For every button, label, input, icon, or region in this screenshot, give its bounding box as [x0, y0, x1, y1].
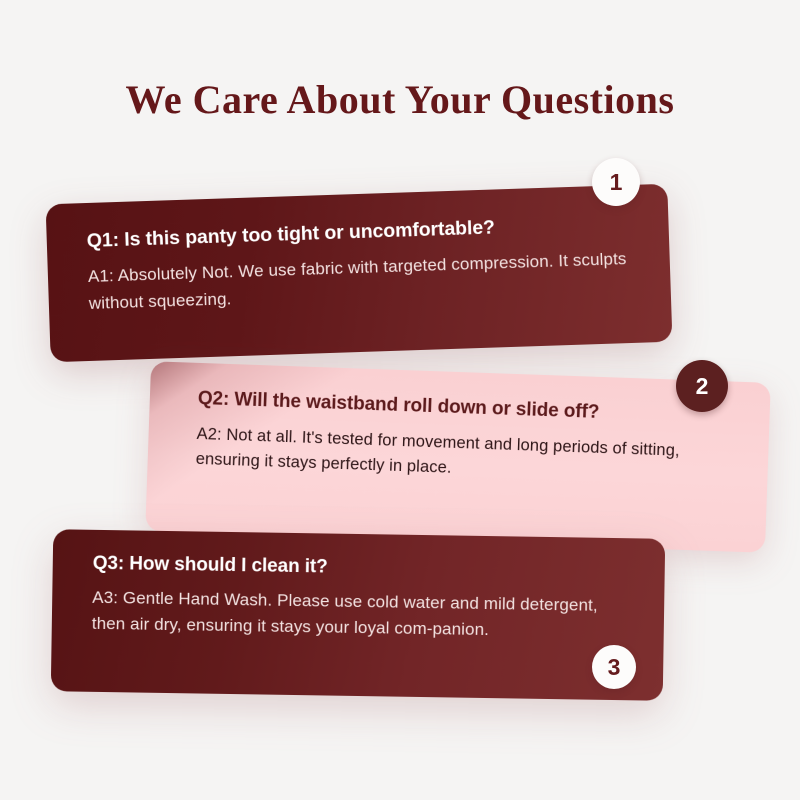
- faq-answer-2: A2: Not at all. It's tested for movement…: [195, 422, 728, 492]
- faq-badge-1: 1: [592, 158, 640, 206]
- faq-question-2: Q2: Will the waistband roll down or slid…: [197, 387, 730, 429]
- faq-card-3-content: Q3: How should I clean it? A3: Gentle Ha…: [51, 529, 665, 664]
- faq-card-1-content: Q1: Is this panty too tight or uncomfort…: [46, 184, 672, 342]
- page-title: We Care About Your Questions: [0, 76, 800, 123]
- faq-question-3: Q3: How should I clean it?: [93, 552, 629, 584]
- faq-graphic: We Care About Your Questions Q1: Is this…: [0, 0, 800, 800]
- faq-answer-1: A1: Absolutely Not. We use fabric with t…: [88, 246, 631, 318]
- faq-question-1: Q1: Is this panty too tight or uncomfort…: [86, 211, 629, 253]
- faq-badge-3: 3: [592, 645, 636, 689]
- faq-badge-2: 2: [676, 360, 728, 412]
- faq-answer-3: A3: Gentle Hand Wash. Please use cold wa…: [92, 585, 629, 646]
- faq-card-1[interactable]: Q1: Is this panty too tight or uncomfort…: [46, 184, 673, 363]
- faq-card-3[interactable]: Q3: How should I clean it? A3: Gentle Ha…: [51, 529, 665, 701]
